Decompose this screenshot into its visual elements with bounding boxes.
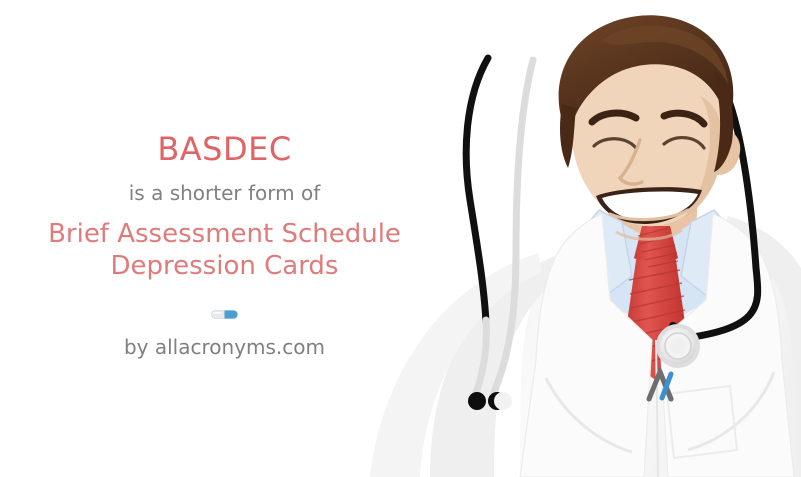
doctor-illustration: [370, 0, 801, 477]
stethoscope-earpiece-gap: [494, 392, 512, 410]
stethoscope-chestpiece: [656, 324, 700, 368]
acronym-card-page: BASDEC is a shorter form of Brief Assess…: [0, 0, 801, 477]
hair-sideburn-left: [560, 104, 576, 168]
stethoscope-earpiece-left: [468, 392, 486, 410]
pill-capsule-icon: [211, 304, 238, 313]
stethoscope-tube-left-upper: [466, 58, 488, 322]
head: [559, 15, 741, 239]
